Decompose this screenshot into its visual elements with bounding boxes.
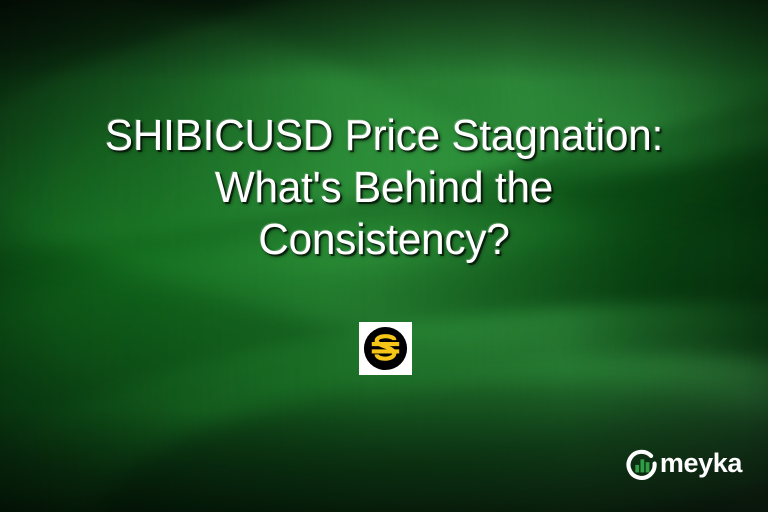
headline-line-1: SHIBICUSD Price Stagnation: bbox=[15, 110, 752, 162]
background-wave-7 bbox=[147, 329, 768, 512]
headline-line-2: What's Behind the bbox=[15, 162, 752, 214]
headline-line-3: Consistency? bbox=[15, 214, 752, 266]
shibicusd-coin-icon bbox=[359, 322, 412, 375]
banner-canvas: SHIBICUSD Price Stagnation: What's Behin… bbox=[0, 0, 768, 512]
headline: SHIBICUSD Price Stagnation: What's Behin… bbox=[15, 110, 752, 266]
meyka-brand-name: meyka bbox=[660, 450, 742, 477]
background-wave-8 bbox=[88, 359, 768, 512]
meyka-bar-chart-ring-icon bbox=[625, 447, 658, 480]
meyka-brand-logo: meyka bbox=[625, 447, 742, 480]
